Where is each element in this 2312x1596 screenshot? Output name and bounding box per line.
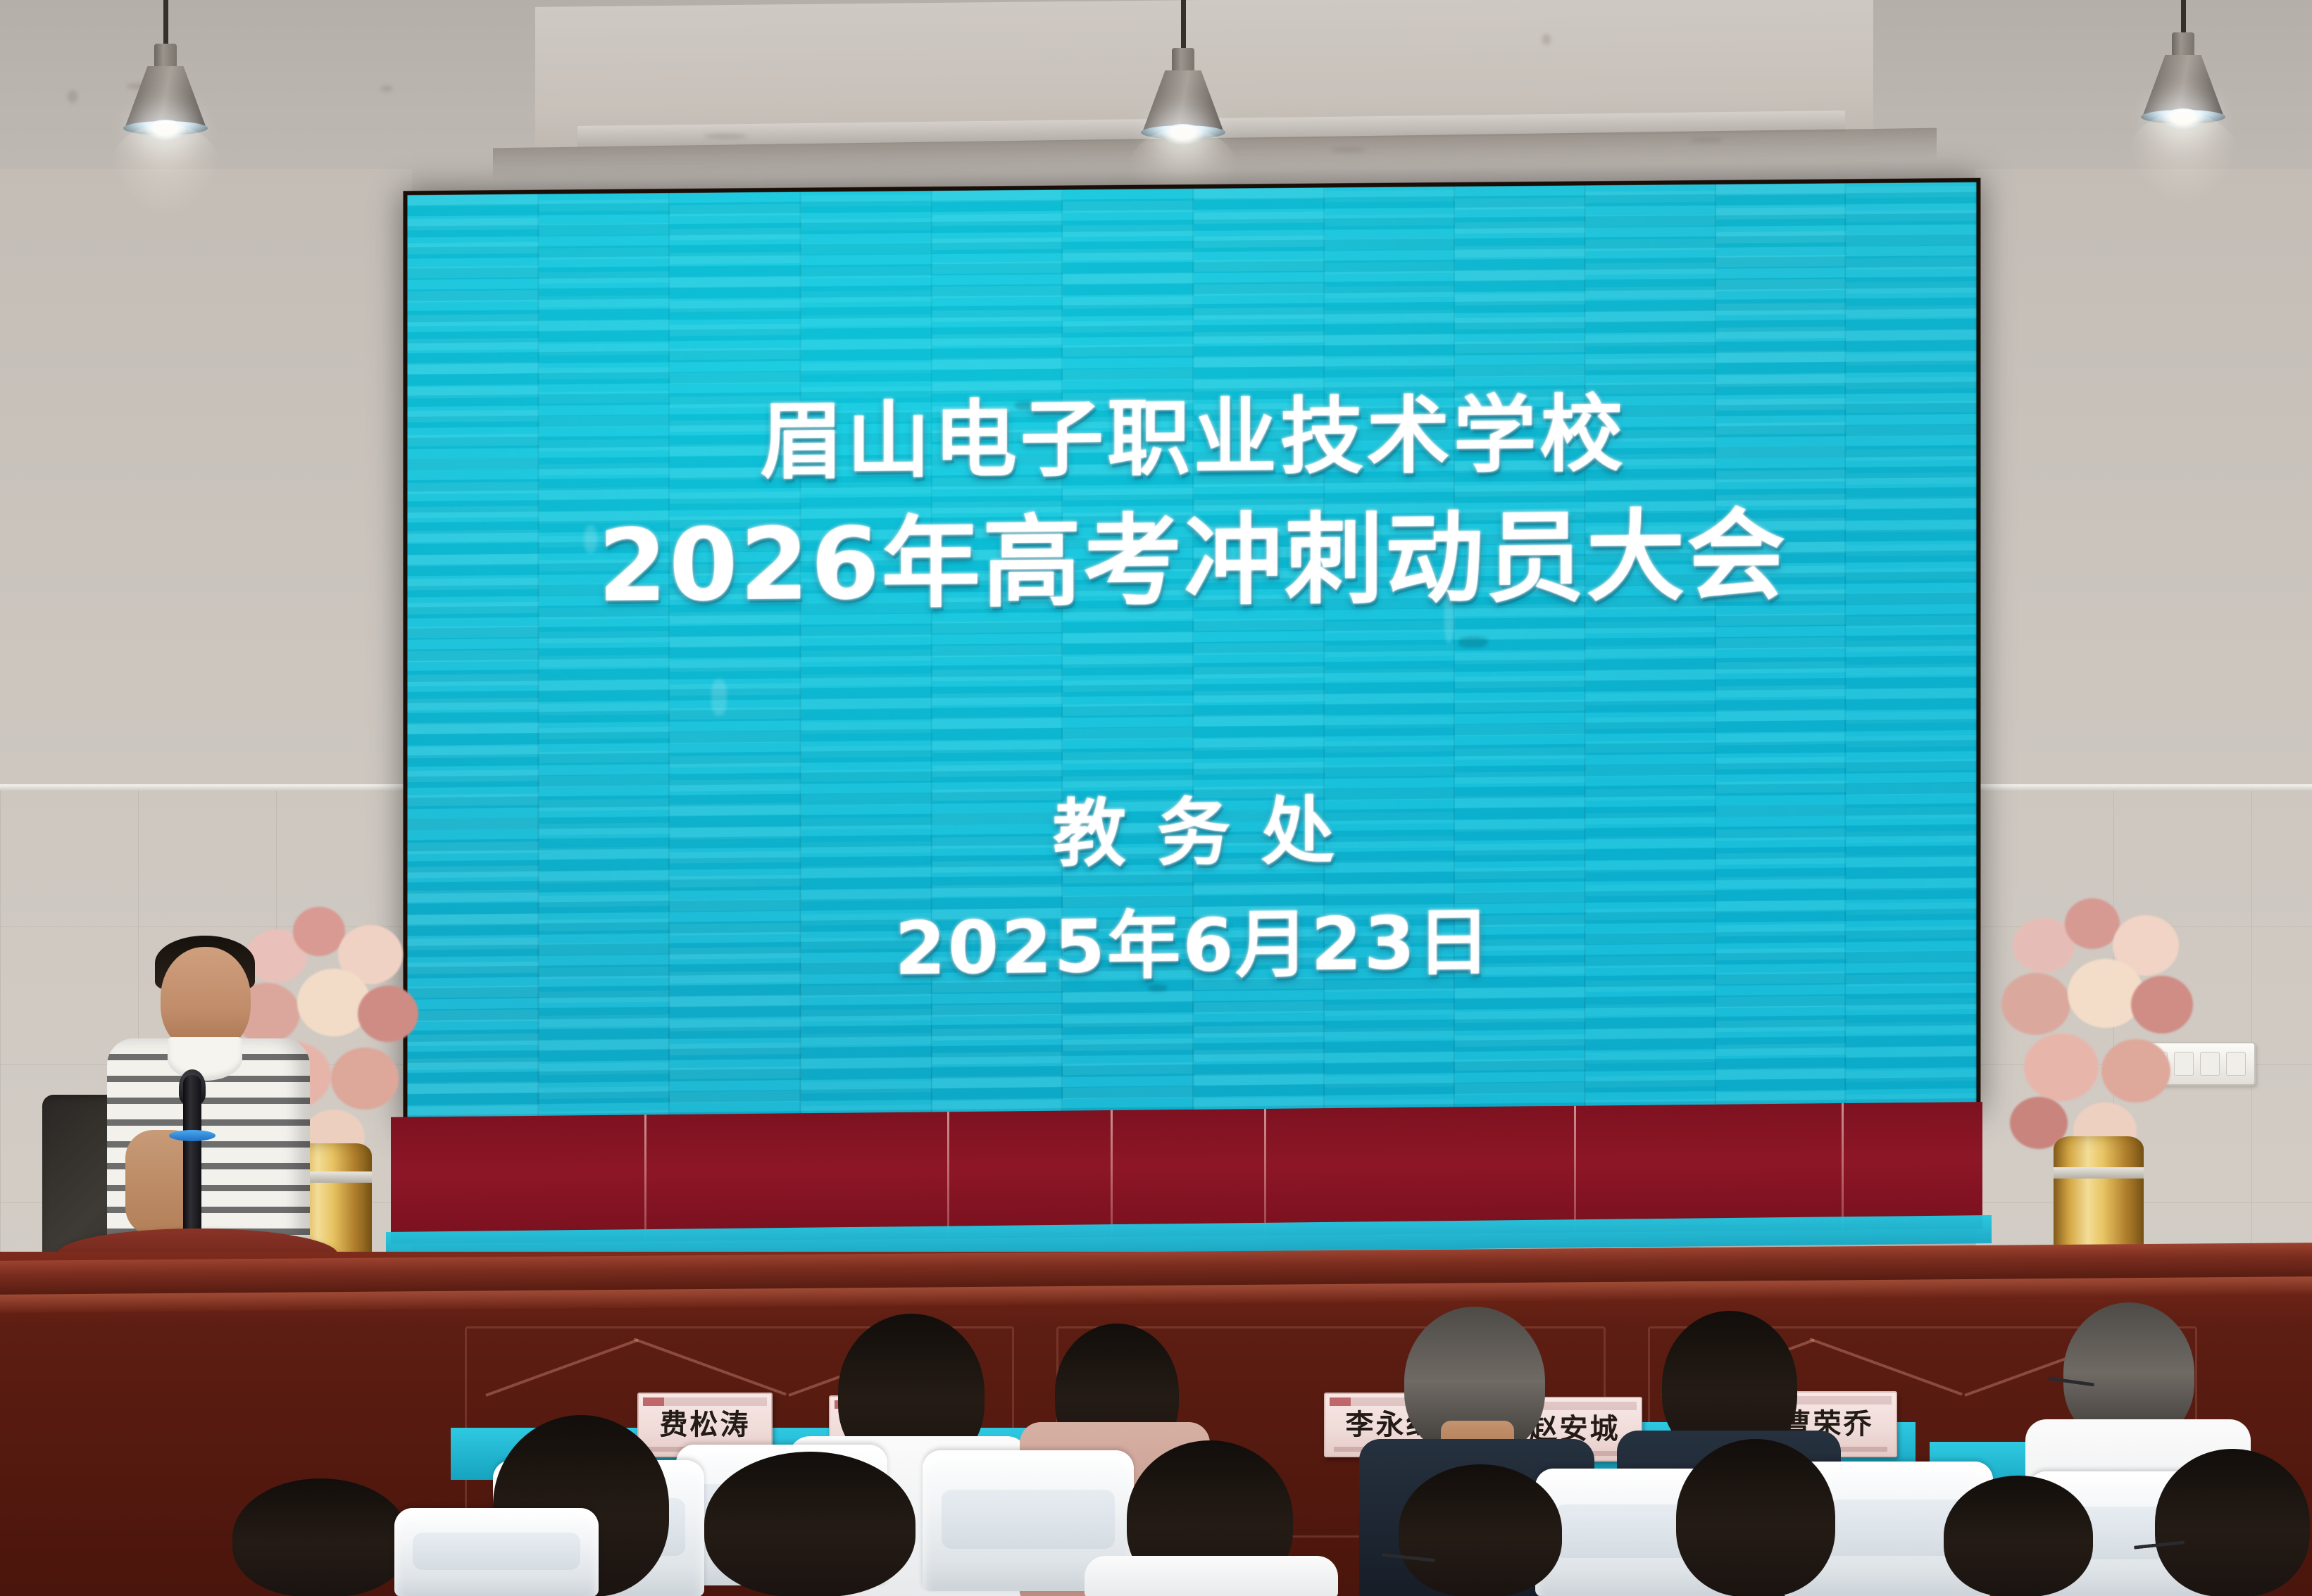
led-display-screen: 眉山电子职业技术学校 2026年高考冲刺动员大会 教务处 2025年6月23日	[403, 178, 1980, 1131]
audience-chair-back	[394, 1508, 599, 1596]
lamp-neck	[1172, 48, 1194, 72]
wainscot-cap	[0, 784, 412, 791]
lamp-neck	[2172, 32, 2194, 56]
microphone-blue-ring	[169, 1130, 215, 1141]
microphone-icon	[183, 1075, 201, 1237]
wall-mark	[1542, 34, 1551, 45]
wall-mark	[1331, 148, 1366, 152]
speaker-shirt-collar	[168, 1037, 242, 1081]
audience-head	[2155, 1449, 2310, 1596]
lamp-glow	[109, 124, 222, 215]
lamp-cord	[2181, 0, 2186, 35]
audience-head	[704, 1452, 916, 1596]
audience-head	[1676, 1439, 1835, 1596]
screen-event-title: 2026年高考冲刺动员大会	[407, 475, 1976, 632]
flower-arrangement-right	[2000, 894, 2197, 1197]
audience-head	[1399, 1464, 1562, 1596]
lamp-neck	[154, 44, 177, 68]
wall-mark	[68, 90, 77, 103]
vase-band	[2054, 1167, 2144, 1179]
screen-blemish	[1458, 636, 1488, 648]
switch-key[interactable]	[2226, 1052, 2246, 1076]
panel-seam	[1574, 1106, 1576, 1233]
panel-seam	[1842, 1103, 1844, 1230]
nameplate-name: 费松涛	[660, 1411, 751, 1439]
auditorium-photo: 眉山电子职业技术学校 2026年高考冲刺动员大会 教务处 2025年6月23日	[0, 0, 2312, 1596]
audience-head	[232, 1478, 408, 1596]
screen-blemish	[711, 679, 727, 715]
switch-key[interactable]	[2200, 1052, 2220, 1076]
lamp-cord	[163, 0, 168, 46]
audience-torso	[1085, 1556, 1338, 1596]
wall-mark	[380, 86, 393, 92]
lamp-glow	[2127, 113, 2239, 204]
nameplate-header-band	[643, 1397, 767, 1406]
panel-seam	[644, 1114, 646, 1241]
lamp-cord	[1181, 0, 1186, 51]
panel-seam	[1264, 1109, 1266, 1236]
screen-department: 教务处	[407, 765, 1976, 888]
wainscot-cap	[1975, 784, 2312, 791]
audience-head	[1944, 1476, 2093, 1596]
wall-mark	[1690, 138, 1723, 142]
panel-seam	[947, 1112, 949, 1238]
panel-seam	[1111, 1110, 1113, 1237]
screen-date: 2025年6月23日	[407, 878, 1976, 1000]
wall-mark	[704, 134, 746, 139]
